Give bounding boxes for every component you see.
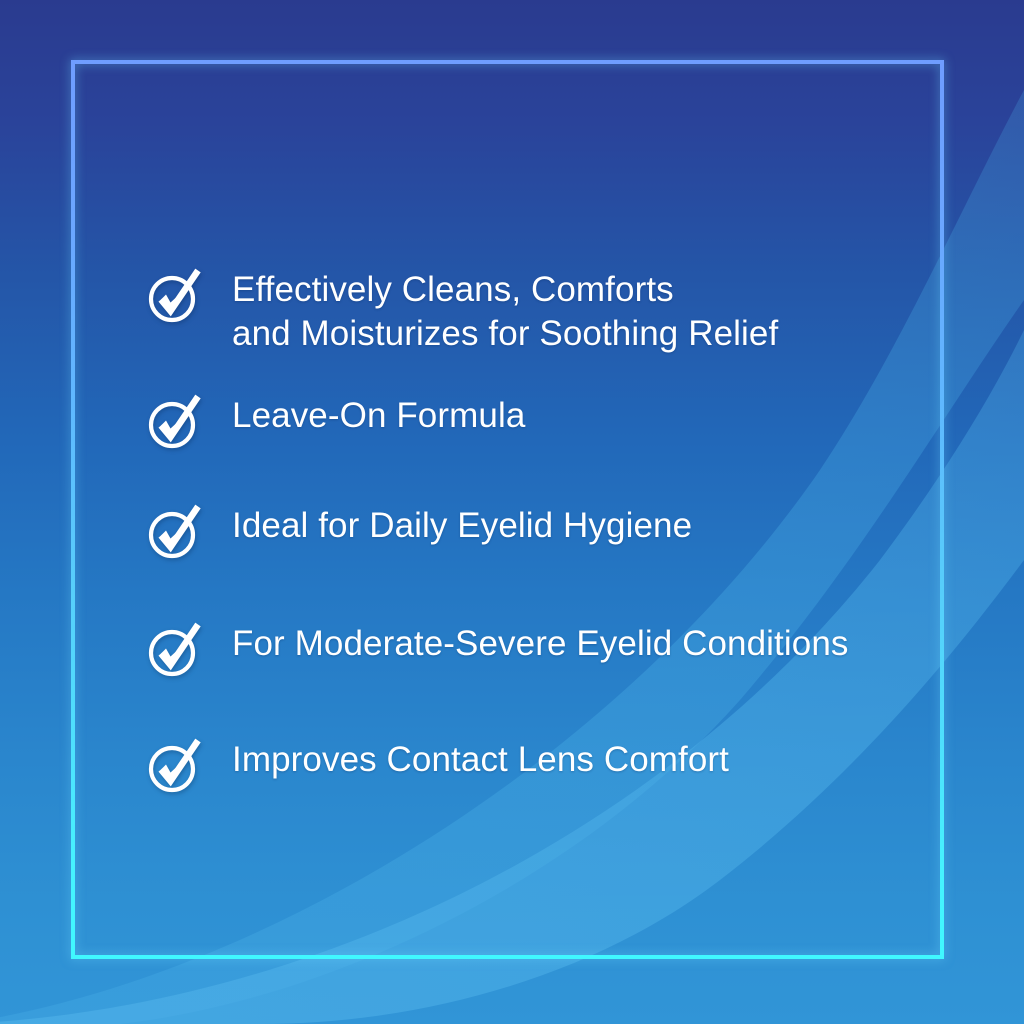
- benefits-graphic: Effectively Cleans, Comforts and Moistur…: [0, 0, 1024, 1024]
- benefit-label: Improves Contact Lens Comfort: [232, 732, 729, 782]
- list-item: Ideal for Daily Eyelid Hygiene: [142, 498, 942, 564]
- check-circle-icon: [142, 734, 206, 798]
- list-item: Effectively Cleans, Comforts and Moistur…: [142, 262, 942, 356]
- benefit-label: Leave-On Formula: [232, 388, 525, 438]
- list-item: Leave-On Formula: [142, 388, 942, 454]
- check-circle-icon: [142, 500, 206, 564]
- check-circle-icon: [142, 390, 206, 454]
- check-circle-icon: [142, 264, 206, 328]
- benefit-label: For Moderate-Severe Eyelid Conditions: [232, 616, 849, 666]
- list-item: For Moderate-Severe Eyelid Conditions: [142, 616, 942, 682]
- check-circle-icon: [142, 618, 206, 682]
- benefit-label: Ideal for Daily Eyelid Hygiene: [232, 498, 692, 548]
- benefits-list: Effectively Cleans, Comforts and Moistur…: [142, 262, 942, 798]
- benefit-label: Effectively Cleans, Comforts and Moistur…: [232, 262, 778, 356]
- list-item: Improves Contact Lens Comfort: [142, 732, 942, 798]
